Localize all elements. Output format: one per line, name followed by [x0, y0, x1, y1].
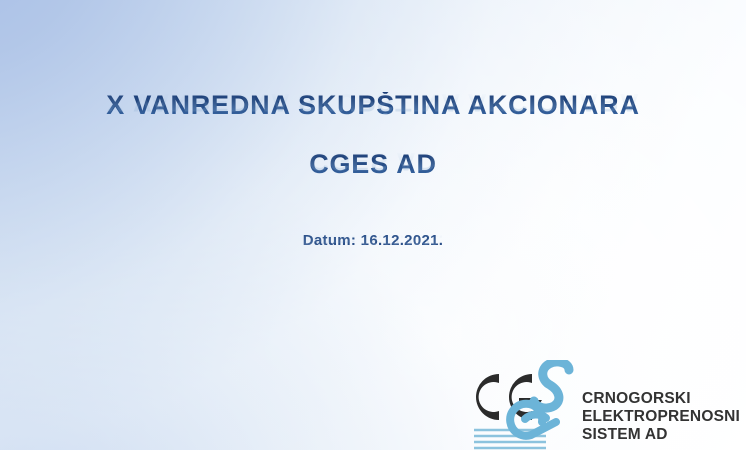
cges-logo: CRNOGORSKI ELEKTROPRENOSNI SISTEM AD	[472, 360, 746, 450]
logo-wordmark-line-1: CRNOGORSKI	[582, 390, 740, 408]
slide-date-text: Datum: 16.12.2021.	[303, 232, 443, 249]
title-line-1: X VANREDNA SKUPŠTINA AKCIONARA X VANREDN…	[0, 92, 746, 141]
logo-wordmark-line-2: ELEKTROPRENOSNI	[582, 408, 740, 426]
logo-wordmark-line-3: SISTEM AD	[582, 426, 740, 444]
title-line-2: CGES AD CGES AD	[0, 151, 746, 200]
title-line-1-text: X VANREDNA SKUPŠTINA AKCIONARA	[106, 92, 640, 119]
presentation-slide: X VANREDNA SKUPŠTINA AKCIONARA X VANREDN…	[0, 0, 746, 450]
slide-title-block: X VANREDNA SKUPŠTINA AKCIONARA X VANREDN…	[0, 92, 746, 200]
title-line-2-text: CGES AD	[309, 151, 437, 178]
slide-date-block: Datum: 16.12.2021. Datum: 16.12.2021.	[0, 232, 746, 264]
cges-logo-wordmark: CRNOGORSKI ELEKTROPRENOSNI SISTEM AD	[582, 360, 740, 444]
cges-logo-mark-icon	[472, 360, 580, 450]
